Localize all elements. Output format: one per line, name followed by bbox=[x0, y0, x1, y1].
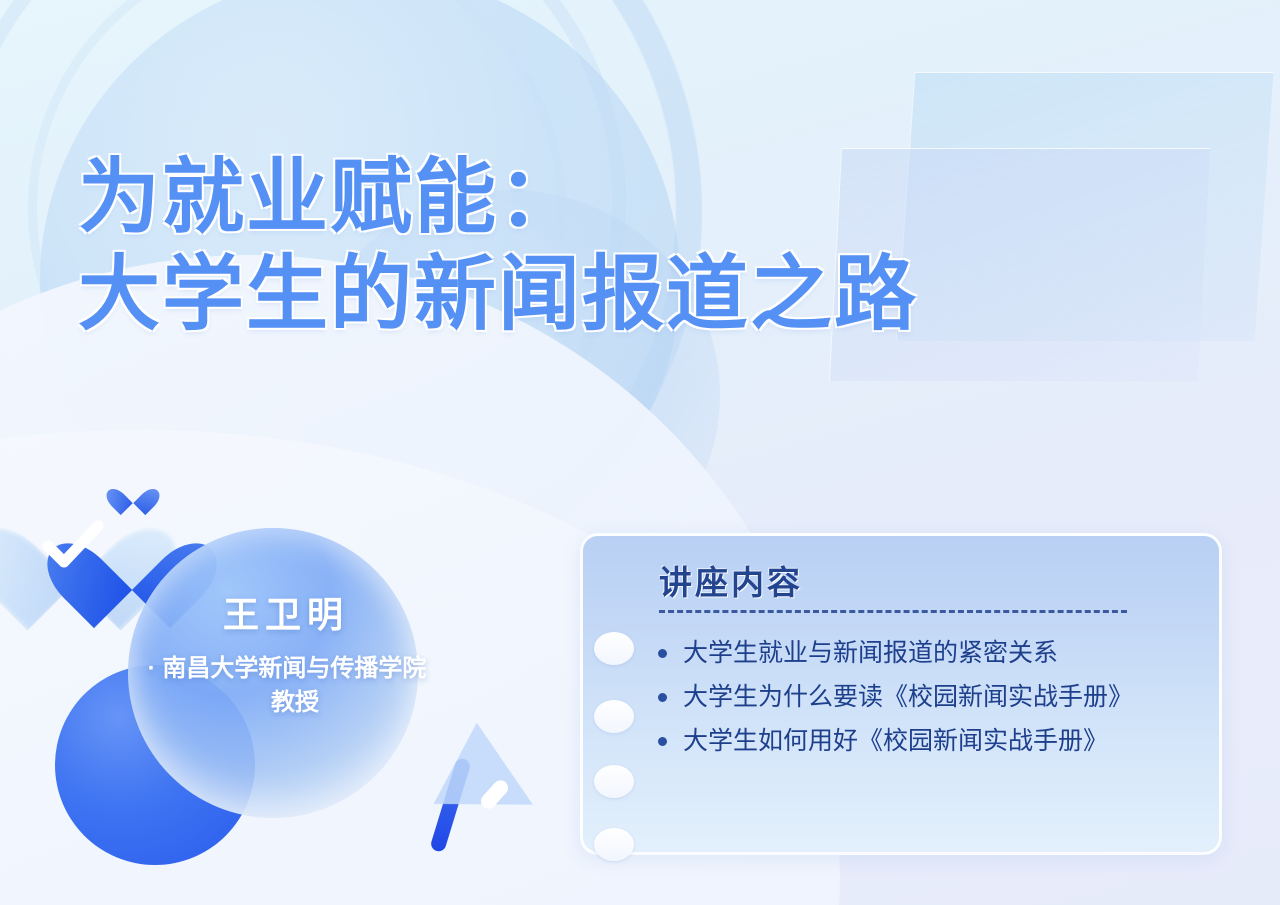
heart-small-icon bbox=[116, 477, 150, 510]
lecture-topic-list: 大学生就业与新闻报道的紧密关系 大学生为什么要读《校园新闻实战手册》 大学生如何… bbox=[653, 634, 1193, 766]
speaker-affiliation-bullet: · bbox=[148, 655, 163, 682]
card-heading: 讲座内容 bbox=[659, 556, 803, 604]
lecture-content-card: 讲座内容 大学生就业与新闻报道的紧密关系 大学生为什么要读《校园新闻实战手册》 … bbox=[580, 533, 1222, 855]
title-line-2: 大学生的新闻报道之路 bbox=[78, 247, 918, 344]
glass-panel-back bbox=[896, 72, 1274, 341]
binder-hole bbox=[594, 828, 634, 861]
poster-canvas: 为就业赋能： 大学生的新闻报道之路 王卫明 · 南昌大学新闻与传播学院教授 讲座… bbox=[0, 0, 1280, 905]
binder-hole bbox=[594, 765, 634, 798]
speaker-affiliation: · 南昌大学新闻与传播学院教授 bbox=[136, 652, 436, 720]
check-icon bbox=[42, 520, 104, 570]
speaker-name: 王卫明 bbox=[136, 586, 436, 638]
poster-title: 为就业赋能： 大学生的新闻报道之路 bbox=[78, 150, 918, 344]
speaker-info: 王卫明 · 南昌大学新闻与传播学院教授 bbox=[136, 586, 436, 720]
list-item: 大学生就业与新闻报道的紧密关系 bbox=[653, 634, 1193, 672]
card-divider bbox=[659, 610, 1127, 613]
speaker-affiliation-text: 南昌大学新闻与传播学院教授 bbox=[162, 655, 426, 716]
list-item: 大学生为什么要读《校园新闻实战手册》 bbox=[653, 678, 1193, 716]
title-line-1: 为就业赋能： bbox=[78, 150, 918, 247]
binder-hole bbox=[594, 632, 634, 665]
binder-hole bbox=[594, 700, 634, 733]
list-item: 大学生如何用好《校园新闻实战手册》 bbox=[653, 722, 1193, 760]
